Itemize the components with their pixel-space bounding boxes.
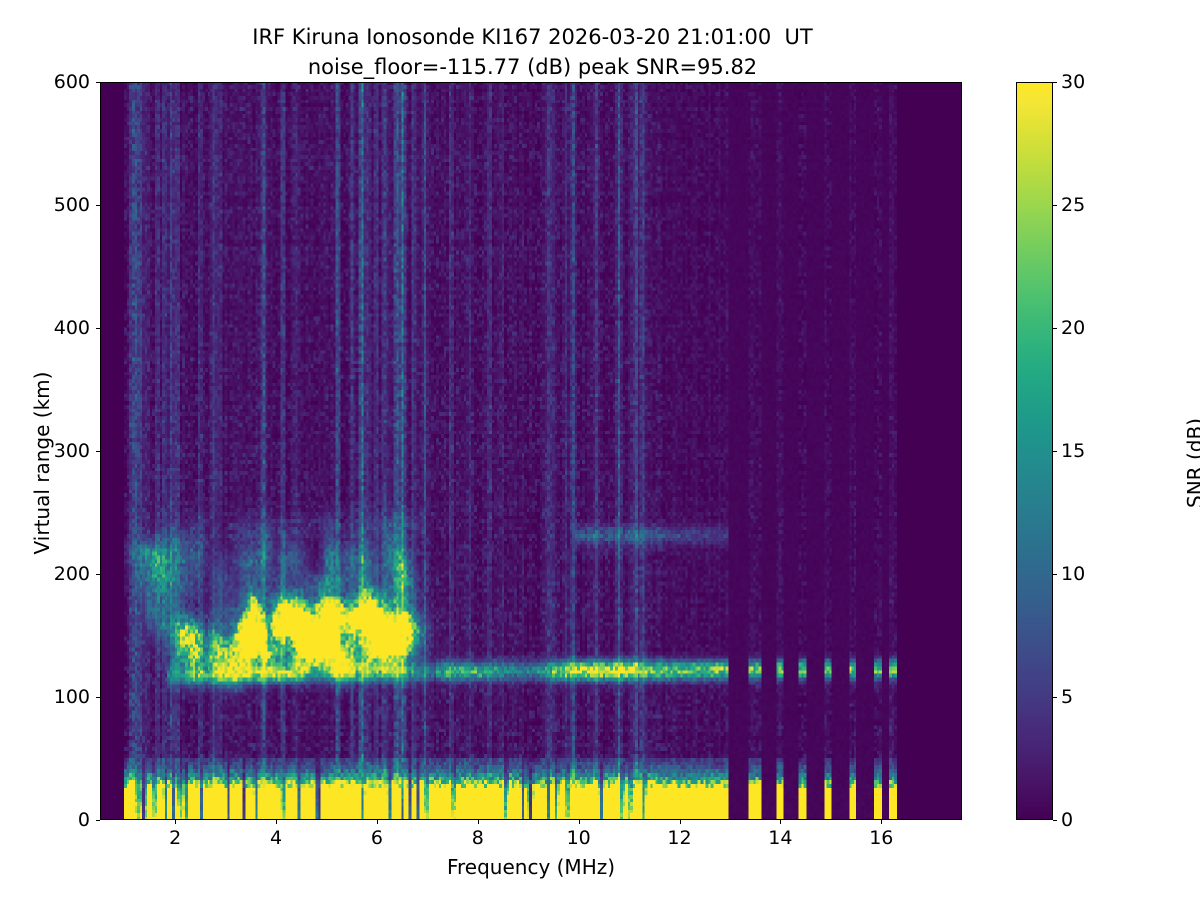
colorbar-tick-30 [1053, 82, 1057, 83]
colorbar-tick-0 [1053, 820, 1057, 821]
colorbar-tick-label-25: 25 [1061, 194, 1085, 216]
colorbar-gradient [1017, 83, 1052, 819]
x-tick-label-4: 4 [270, 827, 282, 849]
ionogram-plot-area [100, 82, 962, 820]
x-tick-label-16: 16 [869, 827, 893, 849]
x-tick-label-14: 14 [768, 827, 792, 849]
colorbar-tick-15 [1053, 451, 1057, 452]
y-tick-label-100: 100 [54, 686, 90, 708]
colorbar-tick-label-10: 10 [1061, 563, 1085, 585]
y-tick-label-600: 600 [54, 71, 90, 93]
x-tick-4 [276, 820, 277, 824]
colorbar-tick-label-20: 20 [1061, 317, 1085, 339]
colorbar-tick-label-30: 30 [1061, 71, 1085, 93]
ionogram-figure: IRF Kiruna Ionosonde KI167 2026-03-20 21… [0, 0, 1200, 900]
ionogram-heatmap-canvas [101, 83, 961, 819]
colorbar-label: SNR (dB) [1183, 263, 1200, 663]
colorbar-tick-label-0: 0 [1061, 809, 1073, 831]
y-tick-label-400: 400 [54, 317, 90, 339]
y-axis-label: Virtual range (km) [30, 263, 54, 663]
title-line-1: IRF Kiruna Ionosonde KI167 2026-03-20 21… [252, 25, 812, 49]
y-tick-300 [96, 451, 100, 452]
x-tick-label-12: 12 [667, 827, 691, 849]
y-tick-label-0: 0 [78, 809, 90, 831]
x-tick-2 [175, 820, 176, 824]
colorbar-tick-20 [1053, 328, 1057, 329]
y-tick-label-200: 200 [54, 563, 90, 585]
y-tick-500 [96, 205, 100, 206]
x-tick-label-10: 10 [567, 827, 591, 849]
colorbar-tick-5 [1053, 697, 1057, 698]
colorbar-tick-25 [1053, 205, 1057, 206]
y-tick-200 [96, 574, 100, 575]
x-tick-label-2: 2 [169, 827, 181, 849]
x-tick-label-8: 8 [472, 827, 484, 849]
x-axis-label: Frequency (MHz) [100, 855, 962, 879]
x-tick-12 [680, 820, 681, 824]
y-tick-100 [96, 697, 100, 698]
colorbar-tick-label-15: 15 [1061, 440, 1085, 462]
colorbar [1016, 82, 1053, 820]
x-tick-10 [579, 820, 580, 824]
colorbar-tick-label-5: 5 [1061, 686, 1073, 708]
title-line-2: noise_floor=-115.77 (dB) peak SNR=95.82 [308, 55, 757, 79]
x-tick-label-6: 6 [371, 827, 383, 849]
x-tick-8 [478, 820, 479, 824]
figure-title: IRF Kiruna Ionosonde KI167 2026-03-20 21… [0, 22, 1065, 82]
y-tick-400 [96, 328, 100, 329]
x-tick-6 [377, 820, 378, 824]
x-tick-14 [780, 820, 781, 824]
x-tick-16 [881, 820, 882, 824]
y-tick-label-300: 300 [54, 440, 90, 462]
y-tick-0 [96, 820, 100, 821]
colorbar-tick-10 [1053, 574, 1057, 575]
y-tick-600 [96, 82, 100, 83]
y-tick-label-500: 500 [54, 194, 90, 216]
